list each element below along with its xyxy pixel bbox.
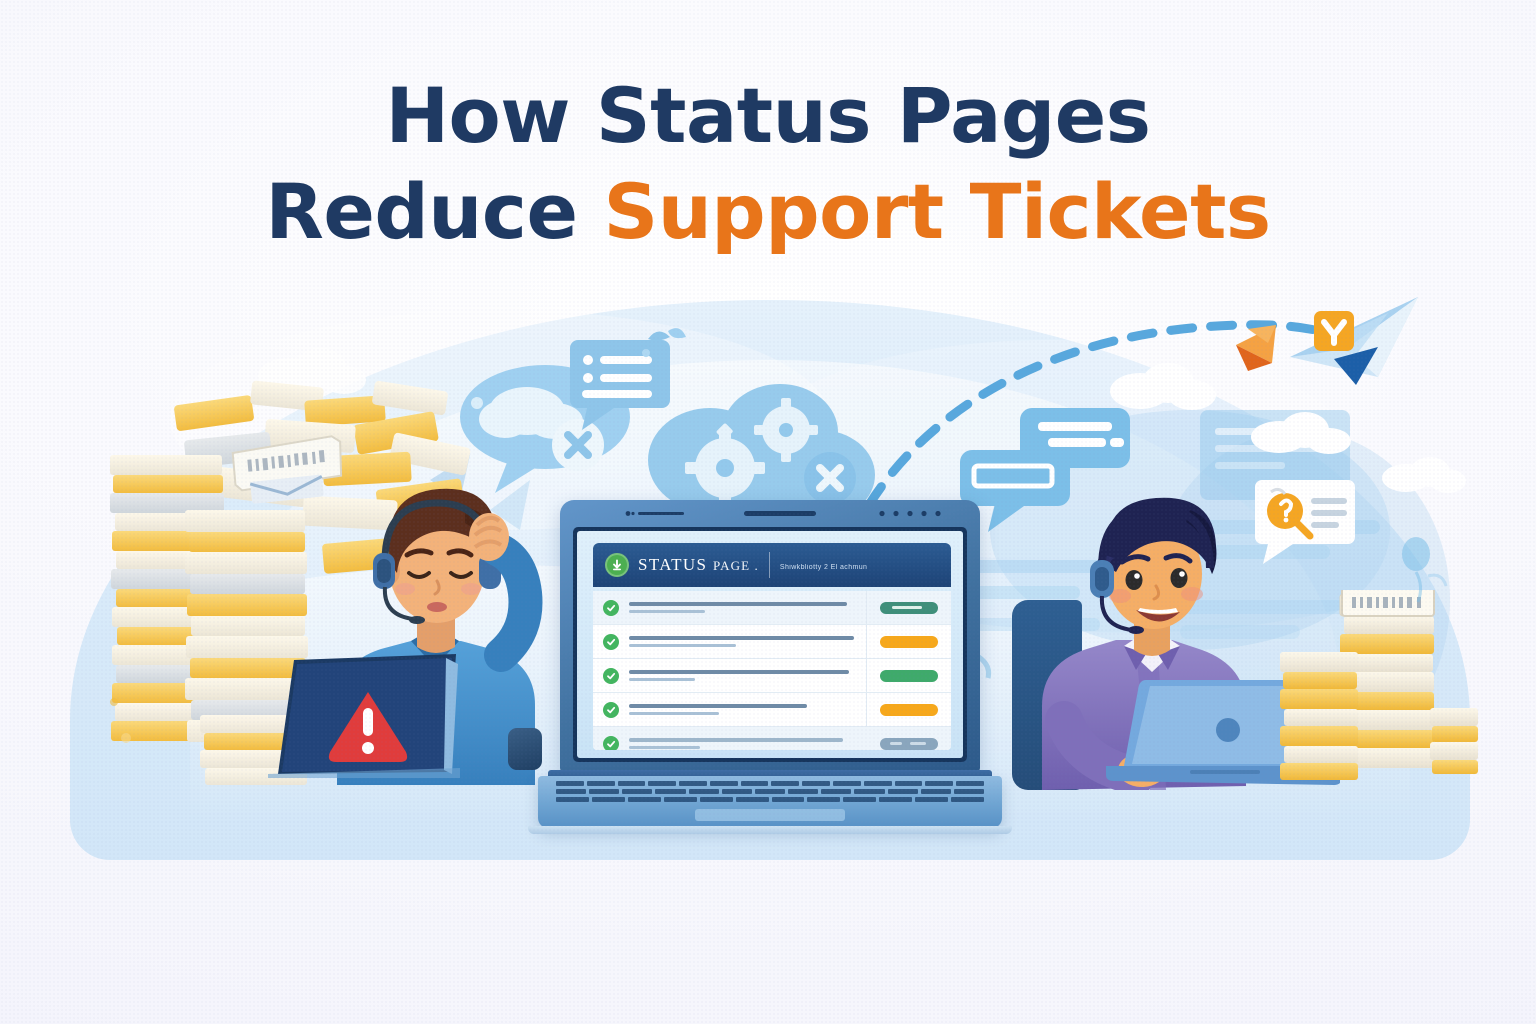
confetti-icon	[640, 325, 690, 365]
laptop-base	[538, 776, 1002, 828]
table-row[interactable]	[593, 659, 951, 693]
balloon-icon	[1390, 530, 1450, 610]
table-row[interactable]	[593, 591, 951, 625]
cloud-icon	[1100, 355, 1220, 415]
right-ticket-stack	[1280, 590, 1480, 780]
status-badge	[866, 659, 951, 692]
check-circle-icon	[603, 668, 619, 684]
cloud-icon	[1245, 405, 1355, 460]
status-page-meta: Shiwkbliotty 2 El achmun	[780, 556, 867, 574]
laptop-foot	[528, 826, 1012, 834]
title-line-1: How Status Pages	[0, 78, 1536, 154]
download-circle-icon	[605, 553, 629, 577]
center-laptop-lid: STATUS PAGE . Shiwkbliotty 2 El achmun	[560, 500, 980, 772]
status-page-title: STATUS PAGE .	[638, 555, 759, 575]
header-divider	[769, 552, 770, 578]
table-row[interactable]	[593, 693, 951, 727]
title-line-2-accent: Support Tickets	[603, 167, 1270, 256]
row-text-placeholder	[629, 636, 866, 647]
checkmark-badge	[1314, 311, 1354, 351]
row-text-placeholder	[629, 602, 866, 613]
laptop-bezel-details	[582, 508, 960, 522]
row-text-placeholder	[629, 670, 866, 681]
laptop-bezel: STATUS PAGE . Shiwkbliotty 2 El achmun	[573, 527, 967, 762]
question-magnifier-card	[1255, 480, 1365, 570]
status-page-header: STATUS PAGE . Shiwkbliotty 2 El achmun	[593, 543, 951, 587]
laptop-screen: STATUS PAGE . Shiwkbliotty 2 El achmun	[577, 531, 963, 758]
row-text-placeholder	[629, 704, 866, 715]
status-page-title-strong: STATUS	[638, 555, 707, 574]
check-circle-icon	[603, 702, 619, 718]
plane-tail	[1236, 325, 1276, 371]
status-page-meta-text: Shiwkbliotty 2 El achmun	[780, 564, 867, 571]
check-circle-icon	[603, 736, 619, 751]
status-badge	[867, 727, 951, 750]
status-page-rows	[593, 591, 951, 750]
laptop-keyboard[interactable]	[556, 781, 984, 805]
table-row[interactable]	[593, 625, 951, 659]
illustration-canvas: STATUS PAGE . Shiwkbliotty 2 El achmun	[0, 0, 1536, 1024]
check-circle-icon	[603, 634, 619, 650]
row-text-placeholder	[629, 738, 867, 749]
mouse-icon	[508, 728, 542, 770]
page-title: How Status Pages Reduce Support Tickets	[0, 78, 1536, 250]
status-badge	[866, 591, 951, 624]
title-line-2: Reduce Support Tickets	[0, 174, 1536, 250]
paper-plane-icon	[1228, 285, 1428, 415]
left-laptop	[268, 650, 460, 778]
laptop-trackpad[interactable]	[695, 809, 845, 821]
status-badge	[866, 625, 951, 658]
status-badge	[866, 693, 951, 726]
check-circle-icon	[603, 600, 619, 616]
cloud-icon	[1378, 450, 1468, 498]
title-line-2-prefix: Reduce	[265, 167, 603, 256]
table-row[interactable]	[593, 727, 951, 750]
status-page-title-light: PAGE .	[713, 558, 759, 573]
